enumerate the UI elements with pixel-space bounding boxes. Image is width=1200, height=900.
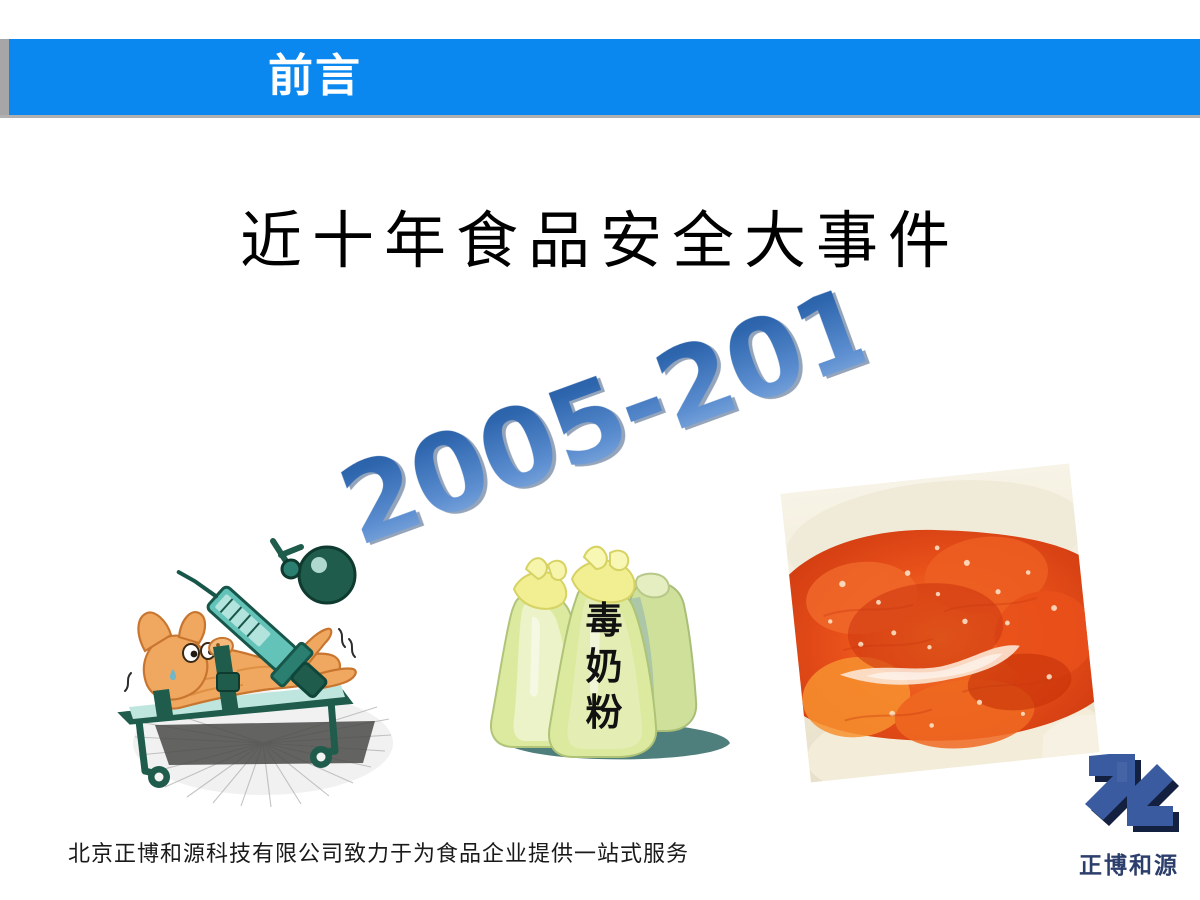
- red-paste-photo: [781, 464, 1100, 783]
- company-logo: 正博和源: [1065, 752, 1193, 884]
- pig-injection-illustration: [95, 525, 415, 825]
- header-section-title: 前言: [268, 46, 362, 106]
- logo-z-monogram-icon: [1073, 752, 1183, 844]
- company-logo-wordmark: 正博和源: [1065, 846, 1193, 880]
- image-poison-milk-powder-sacks: 毒 奶 粉: [478, 505, 748, 770]
- slide-canvas: 前言 近十年食品安全大事件 2005-2015: [0, 0, 1200, 900]
- image-pig-injection-cartoon: [95, 525, 415, 825]
- page-title: 近十年食品安全大事件: [0, 190, 1200, 280]
- milk-powder-sacks-illustration: 毒 奶 粉: [478, 505, 748, 770]
- image-red-orange-paste-photo: [781, 464, 1100, 783]
- header-banner-underline: [0, 115, 1200, 118]
- company-logo-mark-icon: [1073, 752, 1183, 844]
- header-banner-fill: [9, 39, 1200, 115]
- header-banner-left-accent: [0, 39, 9, 116]
- header-banner: [0, 39, 1200, 116]
- footer-company-note: 北京正博和源科技有限公司致力于为食品企业提供一站式服务: [68, 836, 689, 868]
- milk-sack-label-char-3: 粉: [586, 691, 623, 734]
- photo-frame: [781, 464, 1100, 783]
- milk-sack-label-char-2: 奶: [586, 645, 623, 688]
- milk-sack-label-char-1: 毒: [586, 599, 623, 642]
